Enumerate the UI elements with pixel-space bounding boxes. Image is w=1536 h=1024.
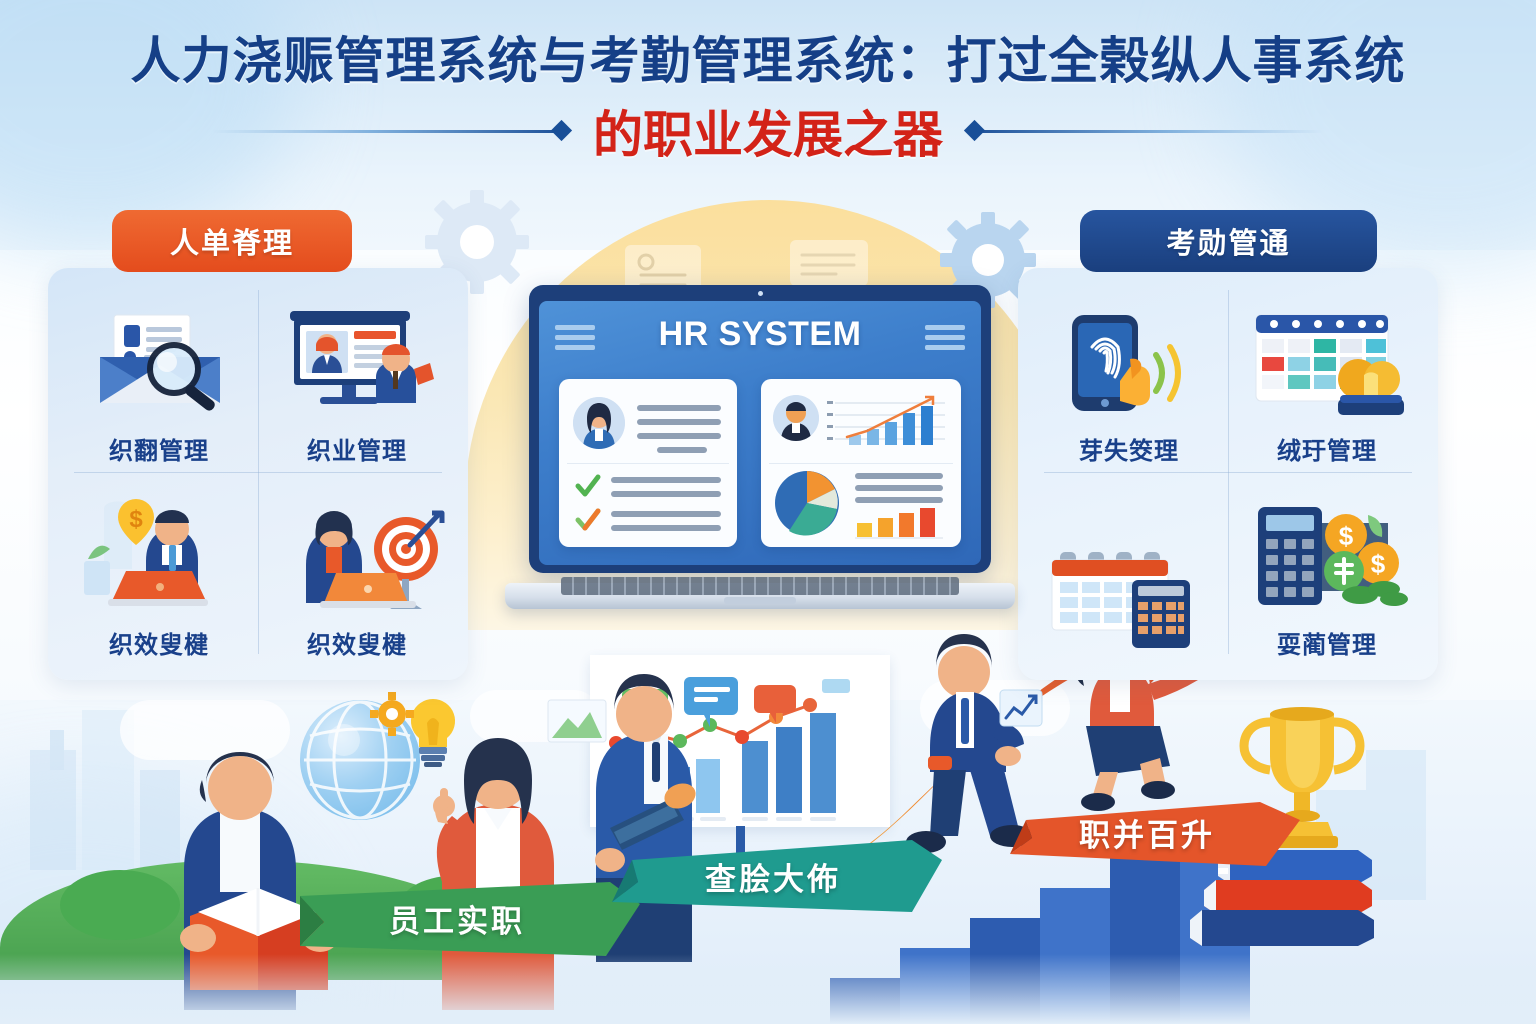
fingerprint-scan-icon: [1044, 307, 1214, 425]
svg-text:$: $: [1339, 521, 1354, 551]
right-cell-2-label: 绒玗管理: [1277, 431, 1377, 466]
ribbon-analysis: 查脍大佈: [612, 838, 942, 920]
laptop-illustration: HR SYSTEM: [505, 285, 1015, 615]
page-subtitle: 的职业发展之器: [593, 95, 943, 167]
laptop-lid: HR SYSTEM: [529, 285, 991, 573]
orange-check-icon: [575, 507, 601, 533]
right-cell-4-label: 耍蔺管理: [1277, 625, 1377, 660]
right-panel-header: 考勋管通: [1080, 210, 1377, 272]
small-gear-icon: [370, 692, 414, 736]
right-cell-4[interactable]: $ $ 耍蔺管理: [1228, 472, 1426, 666]
ribbon-promotion: 职并百升: [1010, 792, 1300, 874]
right-panel-divider-horizontal: [1044, 472, 1412, 473]
male-avatar-icon: [773, 395, 819, 441]
right-cell-1-label: 芽失筊理: [1079, 431, 1179, 466]
ribbon-1-label: 员工实职: [300, 896, 614, 941]
left-panel-divider-horizontal: [74, 472, 442, 473]
left-cell-1[interactable]: 织翻管理: [60, 278, 258, 472]
left-cell-2[interactable]: 织业管理: [258, 278, 456, 472]
mini-bar-chart-2: [855, 507, 945, 539]
divider-right: [969, 129, 1324, 133]
page-title: 人力浇赈管理系统与考勤管理系统：打过全榖纵人事系统: [0, 34, 1536, 89]
envelope-magnifier-icon: [74, 307, 244, 425]
infographic-canvas: 人力浇赈管理系统与考勤管理系统：打过全榖纵人事系统 的职业发展之器 人单脊理: [0, 0, 1536, 1024]
ghost-note-card: [790, 240, 868, 286]
svg-text:$: $: [129, 506, 143, 533]
monitor-profile-icon: [272, 307, 442, 425]
right-panel: 芽失筊理: [1018, 268, 1438, 680]
calculator-money-icon: $ $: [1242, 501, 1412, 619]
left-cell-4[interactable]: 织效叟楗: [258, 472, 456, 666]
laptop-screen: HR SYSTEM: [539, 301, 981, 565]
analytics-card[interactable]: [761, 379, 961, 547]
right-cell-1[interactable]: 芽失筊理: [1030, 278, 1228, 472]
ribbon-2-label: 查脍大佈: [626, 854, 920, 899]
left-cell-4-label: 织效叟楗: [307, 625, 407, 660]
laptop-trackpad: [724, 597, 796, 604]
employee-profile-card[interactable]: [559, 379, 737, 547]
svg-text:$: $: [1371, 549, 1386, 579]
floating-chart-card-icon: [1000, 690, 1042, 726]
laptop-keyboard: [561, 577, 959, 595]
right-cell-2[interactable]: 绒玗管理: [1228, 278, 1426, 472]
left-cell-3[interactable]: $ 织效叟楗: [60, 472, 258, 666]
hr-system-title: HR SYSTEM: [539, 315, 981, 354]
left-panel: 织翻管理: [48, 268, 468, 680]
page-title-block: 人力浇赈管理系统与考勤管理系统：打过全榖纵人事系统 的职业发展之器: [0, 34, 1536, 167]
left-cell-1-label: 织翻管理: [109, 431, 209, 466]
left-cell-3-label: 织效叟楗: [109, 625, 209, 660]
calendar-alarm-icon: [1242, 307, 1412, 425]
left-panel-header: 人单脊理: [112, 210, 352, 272]
person-reading-illustration: [150, 740, 370, 1010]
female-avatar-icon: [573, 397, 625, 449]
subtitle-row: 的职业发展之器: [0, 95, 1536, 167]
pie-chart: [771, 467, 843, 539]
green-check-icon: [575, 473, 601, 499]
target-laptop-icon: [272, 501, 442, 619]
mini-bar-chart: [827, 393, 949, 447]
ribbon-3-label: 职并百升: [1022, 810, 1272, 855]
calendar-calculator-icon: [1044, 536, 1214, 654]
left-cell-2-label: 织业管理: [307, 431, 407, 466]
right-cell-3[interactable]: [1030, 472, 1228, 666]
webcam-icon: [758, 291, 763, 296]
salary-laptop-icon: $: [74, 501, 244, 619]
divider-left: [212, 129, 567, 133]
ribbon-employee-career: 员工实职: [300, 878, 640, 960]
